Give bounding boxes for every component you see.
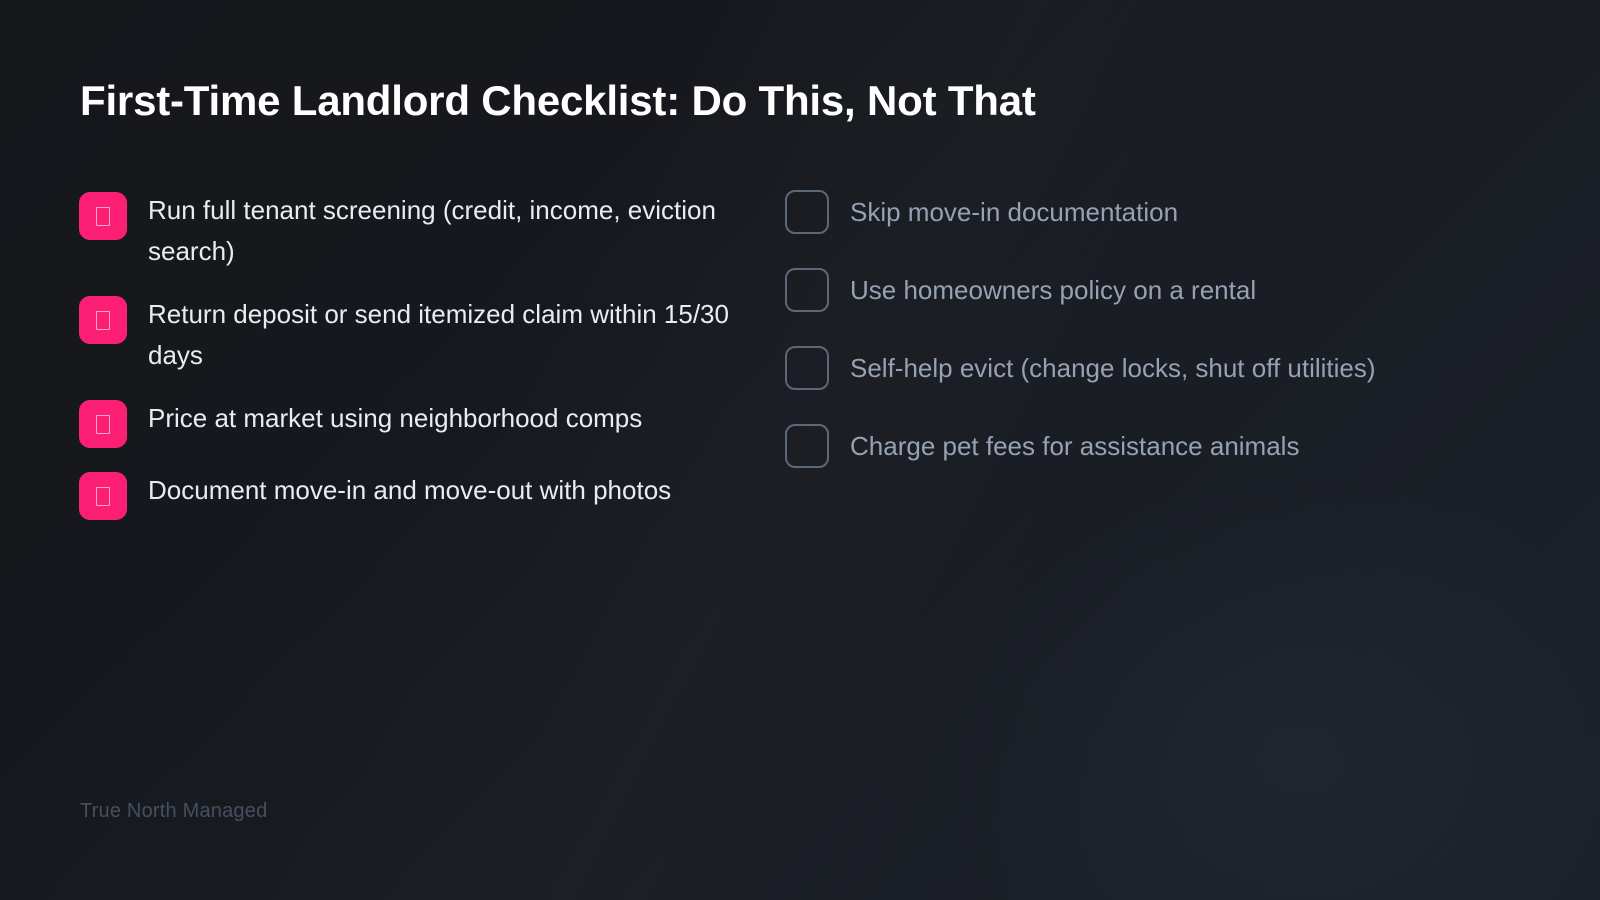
do-item-label: Price at market using neighborhood comps: [148, 398, 642, 439]
not-list-item[interactable]: Self-help evict (change locks, shut off …: [785, 346, 1520, 390]
do-list-item[interactable]: Price at market using neighborhood comps: [79, 398, 760, 448]
not-item-label: Skip move-in documentation: [850, 192, 1178, 233]
checked-box-icon[interactable]: [79, 472, 127, 520]
slide-canvas: First-Time Landlord Checklist: Do This, …: [0, 0, 1600, 900]
empty-box-icon[interactable]: [785, 346, 829, 390]
not-item-label: Charge pet fees for assistance animals: [850, 426, 1299, 467]
checked-box-icon[interactable]: [79, 400, 127, 448]
missing-glyph-box: [96, 415, 110, 434]
do-list-item[interactable]: Run full tenant screening (credit, incom…: [79, 190, 760, 272]
footer-brand: True North Managed: [80, 797, 267, 825]
do-item-label: Document move-in and move-out with photo…: [148, 470, 671, 511]
do-column: Run full tenant screening (credit, incom…: [0, 190, 760, 520]
do-item-label: Return deposit or send itemized claim wi…: [148, 294, 748, 376]
do-list-item[interactable]: Document move-in and move-out with photo…: [79, 470, 760, 520]
not-item-label: Self-help evict (change locks, shut off …: [850, 348, 1376, 389]
missing-glyph-box: [96, 487, 110, 506]
do-list-item[interactable]: Return deposit or send itemized claim wi…: [79, 294, 760, 376]
missing-glyph-box: [96, 311, 110, 330]
not-list-item[interactable]: Use homeowners policy on a rental: [785, 268, 1520, 312]
checklist-columns: Run full tenant screening (credit, incom…: [0, 190, 1600, 520]
empty-box-icon[interactable]: [785, 190, 829, 234]
empty-box-icon[interactable]: [785, 268, 829, 312]
not-list-item[interactable]: Charge pet fees for assistance animals: [785, 424, 1520, 468]
not-item-label: Use homeowners policy on a rental: [850, 270, 1256, 311]
checked-box-icon[interactable]: [79, 192, 127, 240]
page-title: First-Time Landlord Checklist: Do This, …: [80, 76, 1520, 126]
missing-glyph-box: [96, 207, 110, 226]
checked-box-icon[interactable]: [79, 296, 127, 344]
empty-box-icon[interactable]: [785, 424, 829, 468]
do-item-label: Run full tenant screening (credit, incom…: [148, 190, 748, 272]
not-list-item[interactable]: Skip move-in documentation: [785, 190, 1520, 234]
not-column: Skip move-in documentation Use homeowner…: [760, 190, 1520, 468]
